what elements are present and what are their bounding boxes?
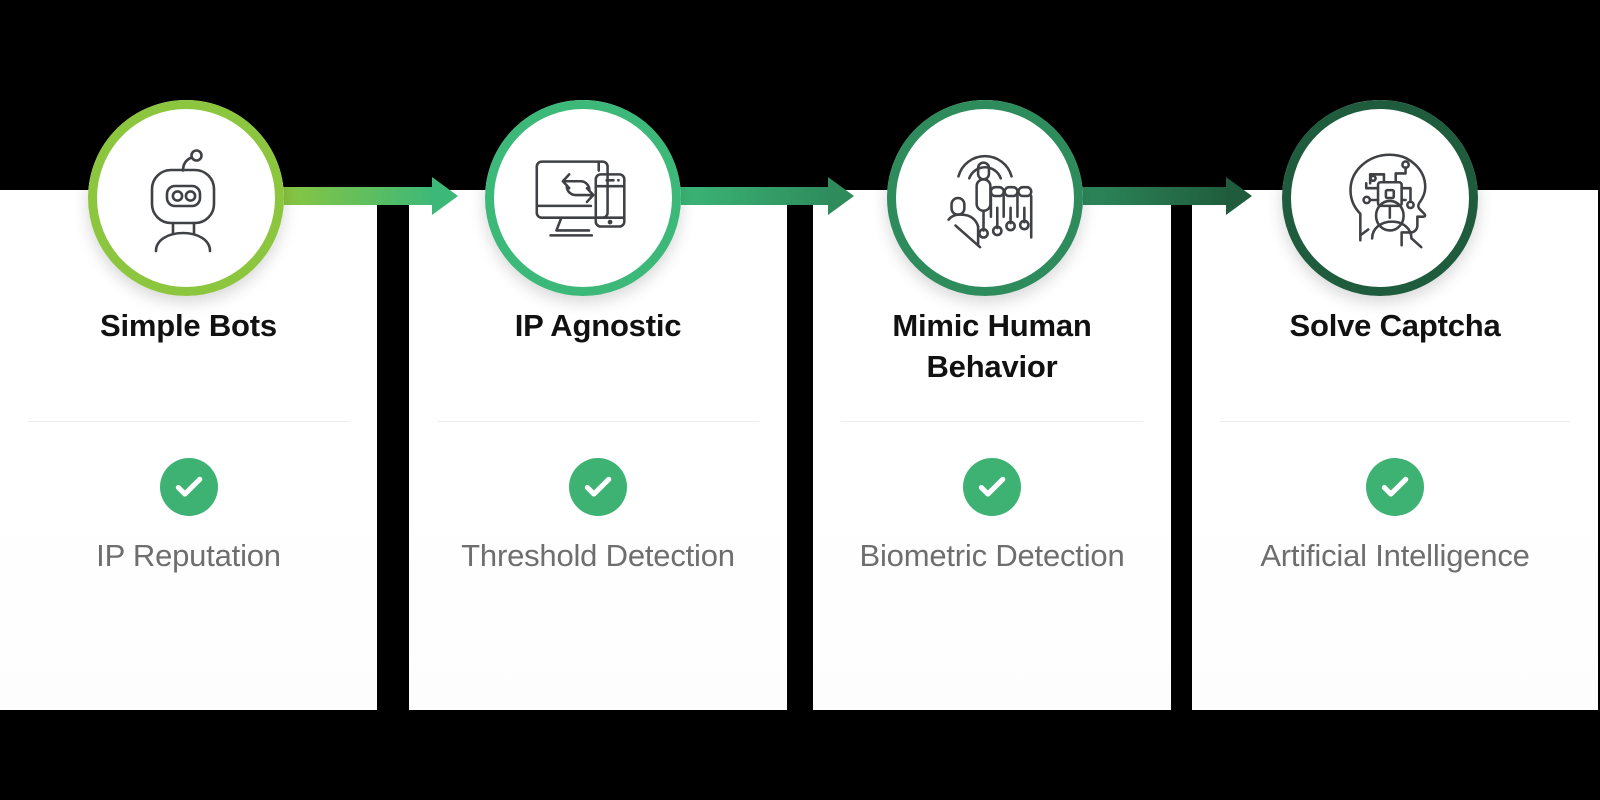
arrow-head [828, 177, 854, 215]
check-circle-icon [1366, 458, 1424, 516]
card-divider [1220, 421, 1570, 422]
ai-head-icon [1321, 139, 1439, 257]
arrow-head [432, 177, 458, 215]
biometric-hand-icon [926, 139, 1044, 257]
step-icon-badge-mimic-human-behavior[interactable] [887, 100, 1083, 296]
card-divider [841, 421, 1143, 422]
arrow-shaft [672, 187, 832, 205]
arrow-simple-bots-to-ip-agnostic [278, 187, 458, 205]
step-subtitle: Artificial Intelligence [1192, 538, 1598, 574]
step-title: IP Agnostic [409, 305, 787, 346]
card-divider [28, 421, 349, 422]
check-circle-icon [160, 458, 218, 516]
check-circle-icon [963, 458, 1021, 516]
step-title: Mimic Human Behavior [813, 305, 1171, 387]
step-title: Simple Bots [0, 305, 377, 346]
devices-sync-icon [524, 139, 642, 257]
step-icon-badge-ip-agnostic[interactable] [485, 100, 681, 296]
check-circle-icon [569, 458, 627, 516]
step-icon-badge-solve-captcha[interactable] [1282, 100, 1478, 296]
step-icon-badge-simple-bots[interactable] [88, 100, 284, 296]
arrow-ip-agnostic-to-mimic-human [672, 187, 854, 205]
step-title: Solve Captcha [1192, 305, 1598, 346]
infographic-canvas: Simple Bots IP Reputation IP Agnostic [0, 0, 1600, 800]
arrow-head [1226, 177, 1252, 215]
step-subtitle: Threshold Detection [409, 538, 787, 574]
step-subtitle: IP Reputation [0, 538, 377, 574]
step-subtitle: Biometric Detection [813, 538, 1171, 574]
arrow-shaft [278, 187, 436, 205]
arrow-mimic-human-to-solve-captcha [1070, 187, 1252, 205]
card-divider [437, 421, 759, 422]
arrow-shaft [1070, 187, 1230, 205]
robot-icon [126, 138, 246, 258]
